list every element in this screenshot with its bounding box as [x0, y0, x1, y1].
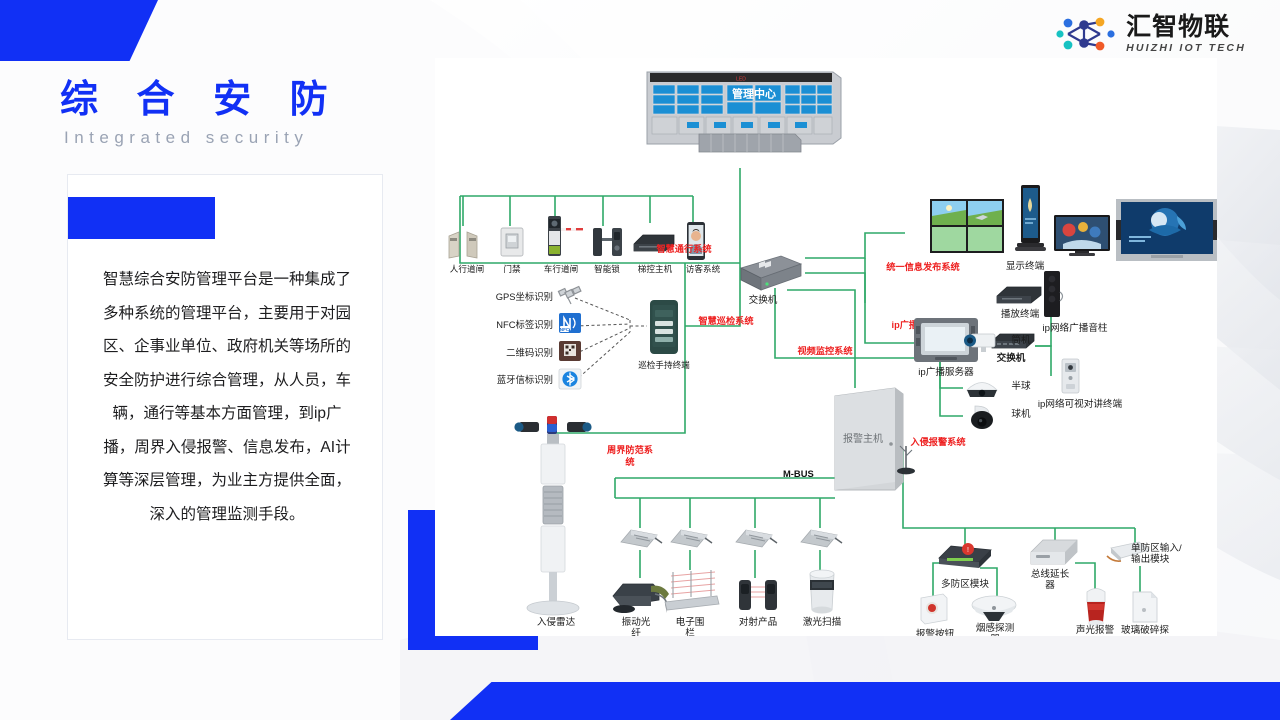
device-label: 报警按钮	[907, 630, 963, 636]
device-label: 筒机	[1007, 336, 1035, 347]
control-center-video-wall: LED	[643, 64, 843, 164]
decoration-bottom-bar	[450, 682, 1280, 720]
device-label: 访客系统	[675, 264, 731, 275]
brand-logo: 汇智物联 HUIZHI IOT TECH	[1054, 14, 1246, 54]
page-subtitle: Integrated security	[64, 128, 308, 148]
node-label: 交换机	[738, 296, 788, 307]
device-label: 门禁	[493, 264, 531, 275]
device-label: 智能锁	[583, 264, 631, 275]
svg-text:LED: LED	[736, 77, 746, 83]
device-label: 人行道闸	[439, 264, 495, 275]
system-label: 周界防范系统	[603, 444, 657, 468]
device-label: 烟感探测器	[973, 624, 1017, 636]
svg-text:NFC: NFC	[560, 327, 570, 332]
inspection-method-label: GPS坐标识别	[475, 292, 553, 303]
system-label: 智慧通行系统	[641, 244, 727, 256]
device-label: 多防区模块	[923, 580, 1007, 591]
system-label: 视频监控系统	[777, 346, 873, 358]
device-label: 单防区输入/输出模块	[1131, 544, 1185, 565]
inspection-method-label: 蓝牙信标识别	[469, 375, 553, 386]
node-label: 巡检手持终端	[631, 360, 697, 371]
svg-text:管理中心: 管理中心	[732, 87, 776, 101]
device-label: 振动光纤	[617, 618, 655, 636]
logo-name-en: HUIZHI IOT TECH	[1126, 42, 1246, 54]
system-label: 智慧巡检系统	[683, 316, 769, 328]
device-label: 车行道闸	[533, 264, 589, 275]
svg-text:!: !	[967, 547, 969, 554]
device-label: 球机	[1007, 410, 1035, 421]
inspection-method-label: 二维码识别	[475, 348, 553, 359]
device-label: 入侵雷达	[521, 618, 591, 629]
system-label: 统一信息发布系统	[867, 262, 979, 274]
device-label: 总线延长器	[1029, 570, 1071, 591]
node-label: 交换机	[987, 354, 1035, 365]
inspection-method-label: NFC标签识别	[475, 320, 553, 331]
device-label: 对射产品	[737, 618, 779, 629]
bus-label: M-BUS	[783, 468, 814, 479]
card-accent-tab	[68, 197, 215, 239]
device-label: ip网络广播音柱	[1023, 324, 1127, 335]
page-title: 综 合 安 防	[60, 68, 342, 123]
description-text: 智慧综合安防管理平台是一种集成了多种系统的管理平台，主要用于对园区、企事业单位、…	[102, 263, 352, 531]
device-label: 声光报警器	[1073, 626, 1117, 636]
device-label: 玻璃破碎探测器	[1121, 626, 1169, 636]
logo-name-cn: 汇智物联	[1126, 14, 1230, 40]
molecule-network-icon	[1054, 14, 1118, 54]
description-card: 智慧综合安防管理平台是一种集成了多种系统的管理平台，主要用于对园区、企事业单位、…	[67, 174, 383, 640]
device-label: 半球	[1007, 382, 1035, 393]
svg-text:报警主机: 报警主机	[843, 432, 883, 445]
device-label: ip网络可视对讲终端	[1015, 400, 1145, 411]
device-label: 电子围栏	[671, 618, 709, 636]
device-label: 激光扫描	[801, 618, 843, 629]
architecture-diagram: LED	[435, 58, 1217, 636]
